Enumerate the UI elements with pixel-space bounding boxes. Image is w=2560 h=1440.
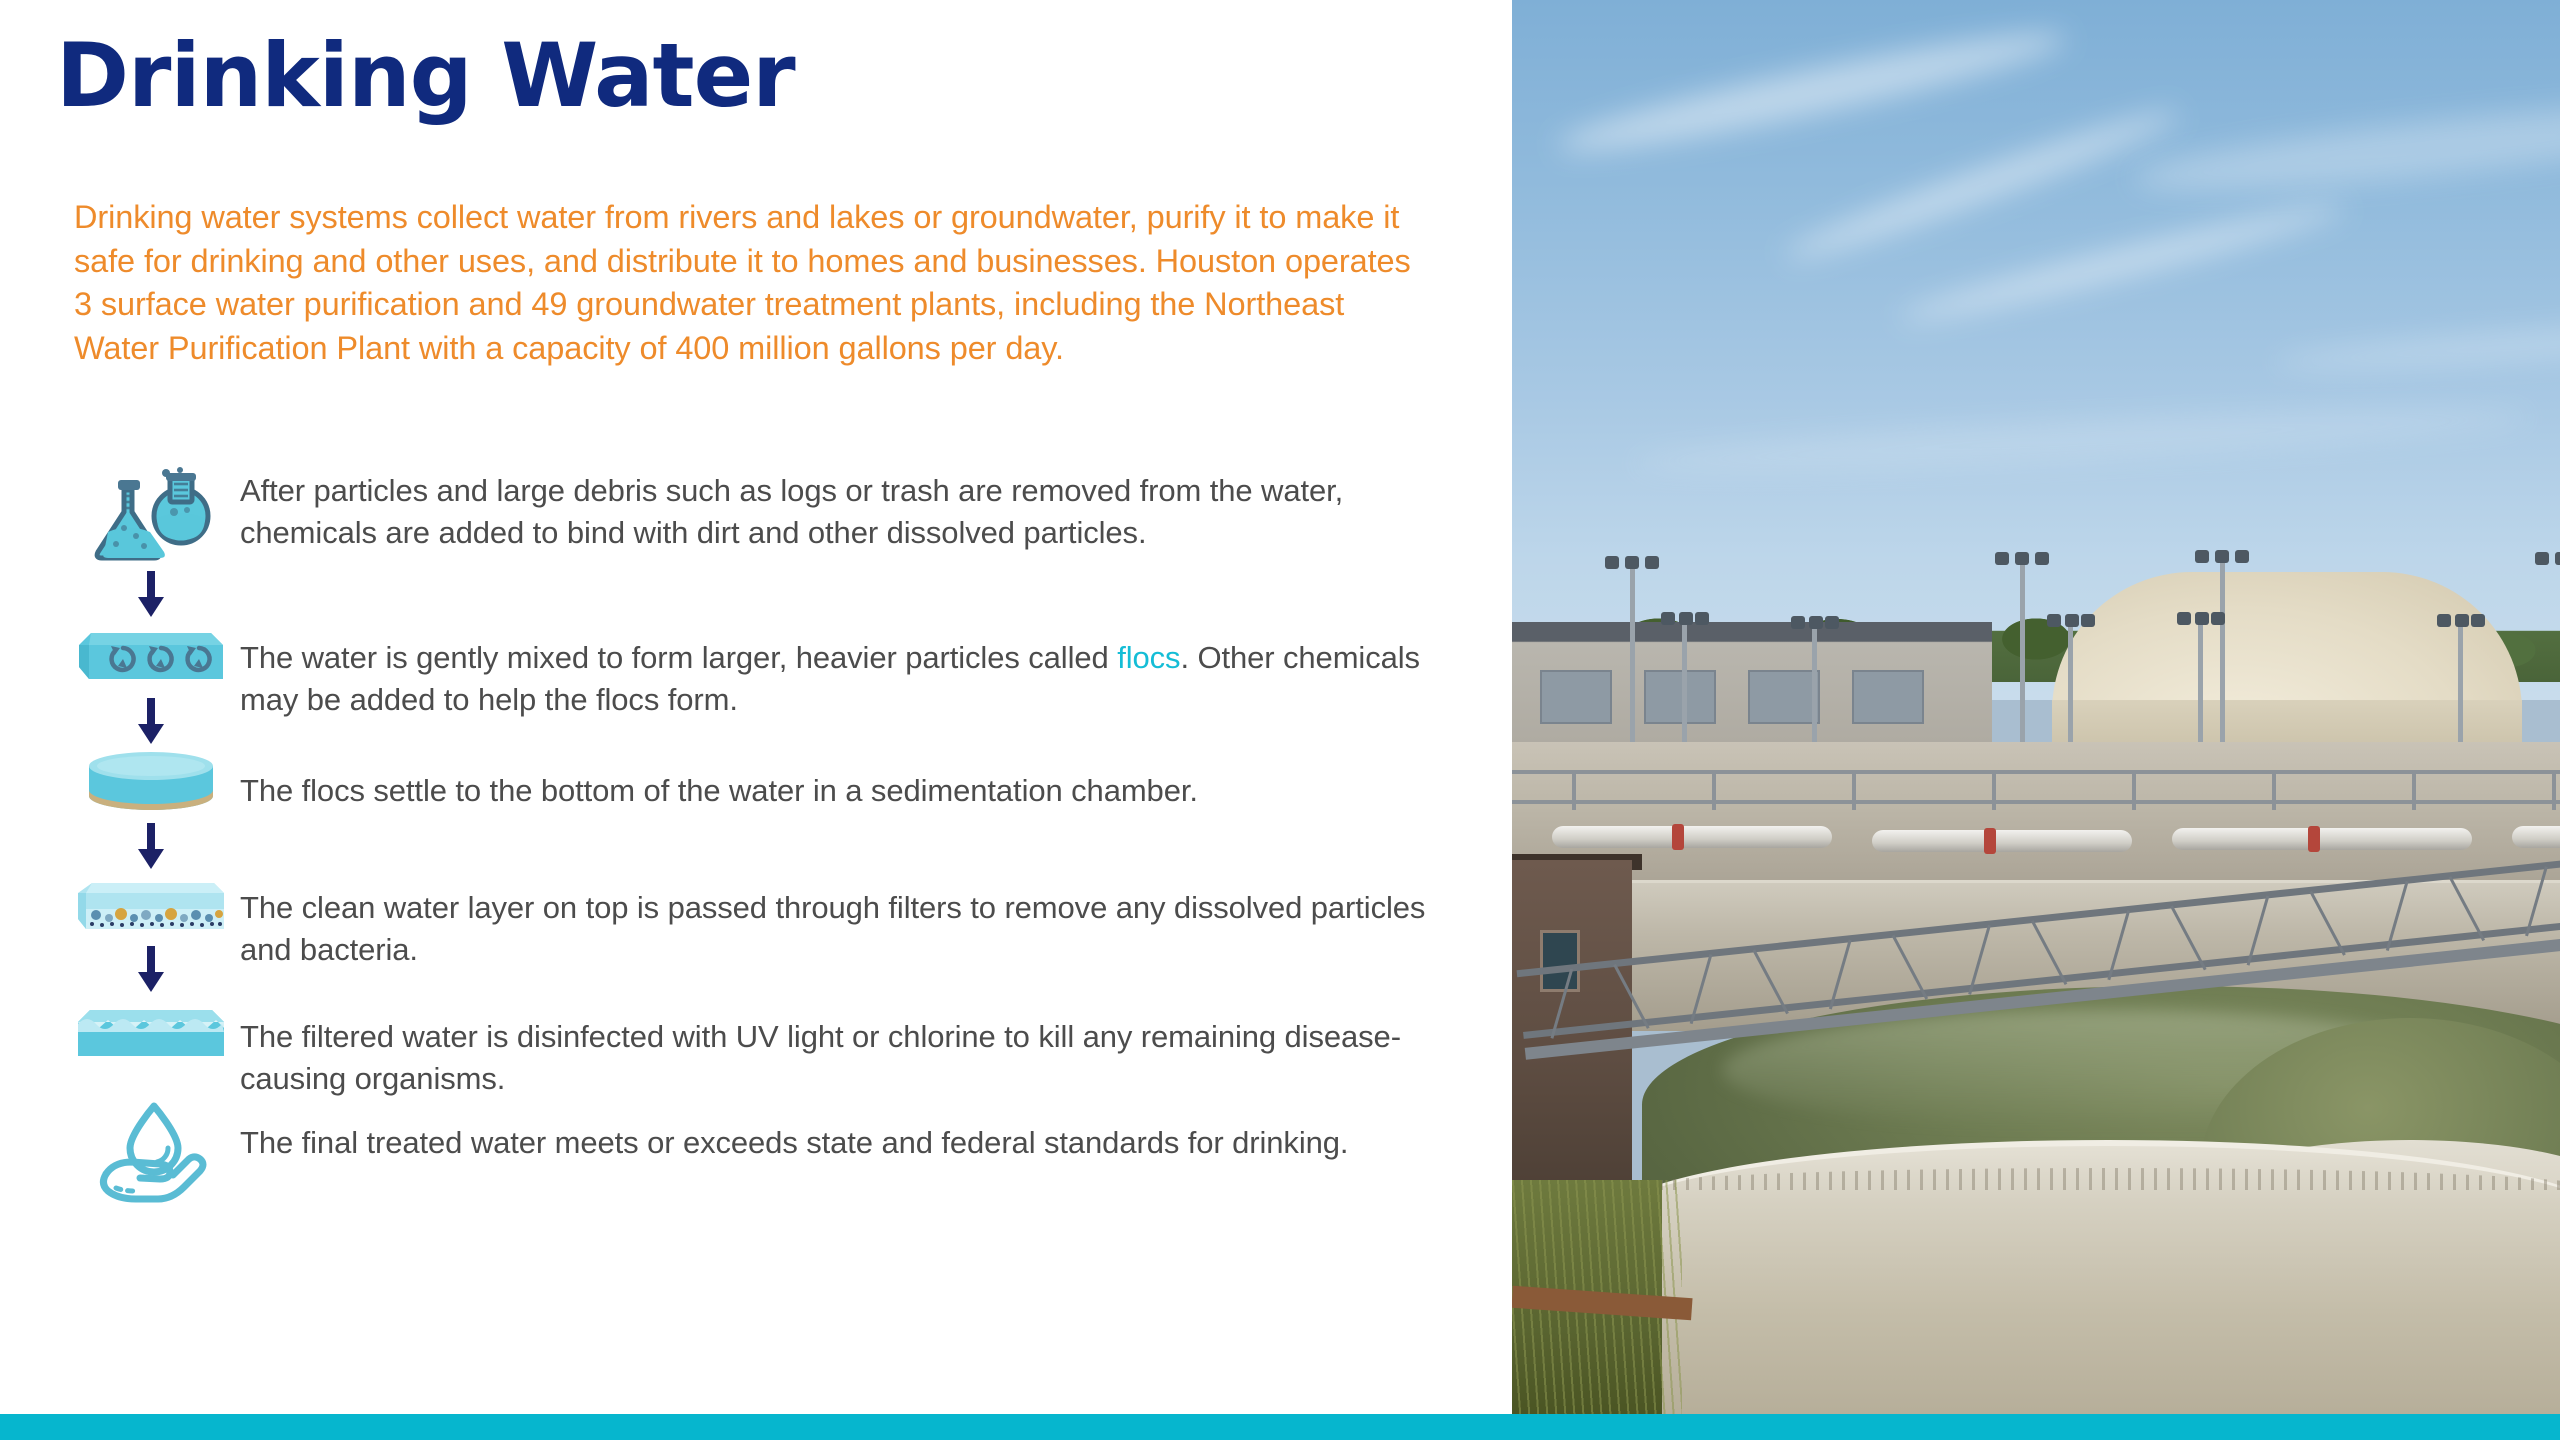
truss-diagonal — [2309, 891, 2345, 956]
light-pole-head — [2195, 550, 2249, 566]
light-pole-head — [1605, 556, 1659, 572]
light-pole-head — [2173, 612, 2227, 628]
step-icon-cell — [62, 875, 240, 998]
water-drop-hand-icon — [86, 1100, 216, 1209]
step-text-highlight: flocs — [1117, 640, 1180, 675]
chemistry-flasks-icon — [88, 466, 214, 567]
truss-diagonal — [1613, 964, 1649, 1029]
arrow-down-icon — [136, 819, 166, 875]
step-text-main: The filtered water is disinfected with U… — [240, 1019, 1401, 1096]
step-icon-cell — [62, 623, 240, 750]
truss-diagonal — [2031, 920, 2067, 985]
rail-post — [1712, 770, 1716, 810]
rail-post — [2552, 770, 2556, 810]
step-text-main: After particles and large debris such as… — [240, 473, 1343, 550]
step-text: The water is gently mixed to form larger… — [240, 635, 1462, 721]
list-item: The filtered water is disinfected with U… — [62, 998, 1462, 1100]
sedimentation-tank-icon — [86, 750, 216, 819]
flocculation-basin-icon — [77, 623, 225, 694]
disinfection-block-icon — [76, 998, 226, 1069]
step-text: The clean water layer on top is passed t… — [240, 885, 1462, 971]
step-text-main: The clean water layer on top is passed t… — [240, 890, 1425, 967]
slide-root: Drinking Water Drinking water systems co… — [0, 0, 2560, 1440]
rail-post — [1572, 770, 1576, 810]
list-item: The clean water layer on top is passed t… — [62, 875, 1462, 998]
rail-post — [1992, 770, 1996, 810]
content-pane: Drinking Water Drinking water systems co… — [0, 0, 1512, 1440]
rail-post — [2272, 770, 2276, 810]
step-text: The filtered water is disinfected with U… — [240, 1014, 1462, 1100]
list-item: The final treated water meets or exceeds… — [62, 1100, 1462, 1209]
list-item: After particles and large debris such as… — [62, 466, 1462, 623]
pipe-flange — [2308, 826, 2320, 852]
dome-tank — [2052, 572, 2522, 712]
light-pole-head — [1787, 616, 1841, 632]
plant-photo-scene — [1512, 0, 2560, 1440]
light-pole-head — [1657, 612, 1711, 628]
handrail — [1512, 800, 2560, 804]
building-window — [1748, 670, 1820, 724]
truss-diagonal — [1752, 949, 1788, 1014]
truss-diagonal — [1892, 935, 1928, 1000]
process-step-list: After particles and large debris such as… — [62, 466, 1462, 1209]
step-icon-cell — [62, 998, 240, 1069]
arrow-down-icon — [136, 567, 166, 623]
rail-post — [2132, 770, 2136, 810]
light-pole-head — [1995, 552, 2049, 568]
light-pole-head — [2043, 614, 2097, 630]
arrow-down-icon — [136, 942, 166, 998]
building-window — [1852, 670, 1924, 724]
process-pipe — [1552, 826, 1832, 848]
step-icon-cell — [62, 750, 240, 875]
handrail — [1512, 770, 2560, 774]
arrow-down-icon — [136, 694, 166, 750]
step-text-main: The water is gently mixed to form larger… — [240, 640, 1117, 675]
step-text: The final treated water meets or exceeds… — [240, 1120, 1462, 1164]
process-pipe — [2172, 828, 2472, 850]
process-pipe — [1872, 830, 2132, 852]
plant-building — [1512, 622, 1992, 742]
step-text-main: The final treated water meets or exceeds… — [240, 1125, 1348, 1160]
step-text-main: The flocs settle to the bottom of the wa… — [240, 773, 1198, 808]
intro-paragraph: Drinking water systems collect water fro… — [74, 196, 1436, 371]
truss-diagonal — [2449, 876, 2485, 941]
bottom-accent-bar — [0, 1414, 2560, 1440]
plant-photo — [1512, 0, 2560, 1440]
step-text: After particles and large debris such as… — [240, 468, 1462, 554]
truss-diagonal — [2170, 905, 2206, 970]
list-item: The flocs settle to the bottom of the wa… — [62, 750, 1462, 875]
light-pole-head — [2535, 552, 2560, 568]
process-pipe — [2512, 826, 2560, 848]
rail-post — [2412, 770, 2416, 810]
light-pole — [1630, 556, 1635, 772]
step-text: The flocs settle to the bottom of the wa… — [240, 768, 1462, 812]
filtration-bed-icon — [76, 875, 226, 942]
rail-post — [1852, 770, 1856, 810]
building-window — [1540, 670, 1612, 724]
pipe-flange — [1672, 824, 1684, 850]
list-item: The water is gently mixed to form larger… — [62, 623, 1462, 750]
light-pole-head — [2433, 614, 2487, 630]
pipe-flange — [1984, 828, 1996, 854]
step-icon-cell — [62, 1100, 240, 1209]
step-icon-cell — [62, 466, 240, 623]
building-window — [1644, 670, 1716, 724]
page-title: Drinking Water — [56, 32, 795, 120]
